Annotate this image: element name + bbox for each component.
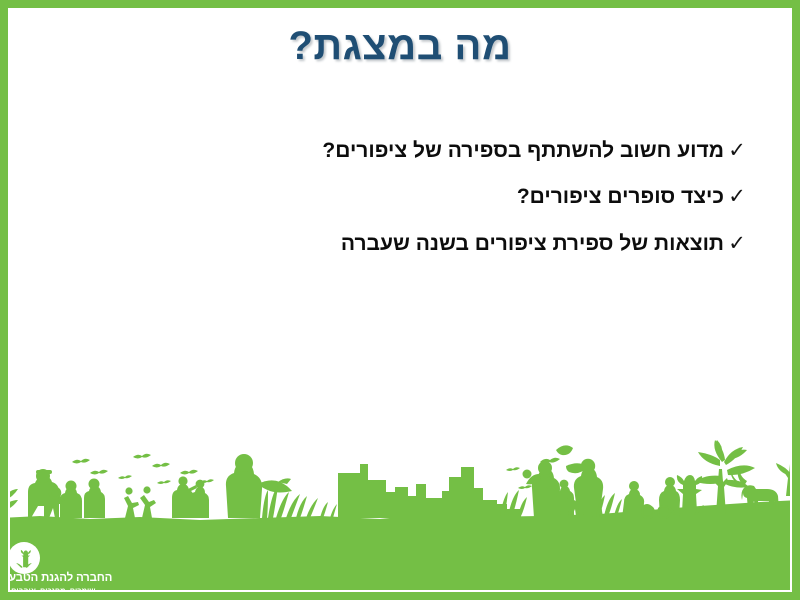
checkmark-icon: ✓ (724, 186, 750, 207)
bullet-text: מדוע חשוב להשתתף בספירה של ציפורים? (322, 138, 724, 164)
logo-tagline: שומרים. מחנכים. אוהבים. (9, 586, 95, 595)
list-item: ✓ תוצאות של ספירת ציפורים בשנה שעברה (50, 231, 750, 257)
slide-title: מה במצגת? (40, 24, 760, 69)
list-item: ✓ מדוע חשוב להשתתף בספירה של ציפורים? (50, 138, 750, 164)
checkmark-icon: ✓ (724, 233, 750, 254)
bullet-text: כיצד סופרים ציפורים? (517, 184, 724, 210)
bullet-list: ✓ מדוע חשוב להשתתף בספירה של ציפורים? ✓ … (50, 138, 750, 277)
logo-organization-name: החברה להגנת הטבע (9, 572, 112, 584)
checkmark-icon: ✓ (724, 140, 750, 161)
organization-logo[interactable]: החברה להגנת הטבע שומרים. מחנכים. אוהבים. (6, 540, 118, 596)
presentation-slide: מה במצגת? ✓ מדוע חשוב להשתתף בספירה של צ… (0, 0, 800, 600)
bullet-text: תוצאות של ספירת ציפורים בשנה שעברה (341, 231, 724, 257)
list-item: ✓ כיצד סופרים ציפורים? (50, 184, 750, 210)
plant-in-circle-icon (8, 542, 40, 574)
scenery-illustration (0, 440, 800, 600)
